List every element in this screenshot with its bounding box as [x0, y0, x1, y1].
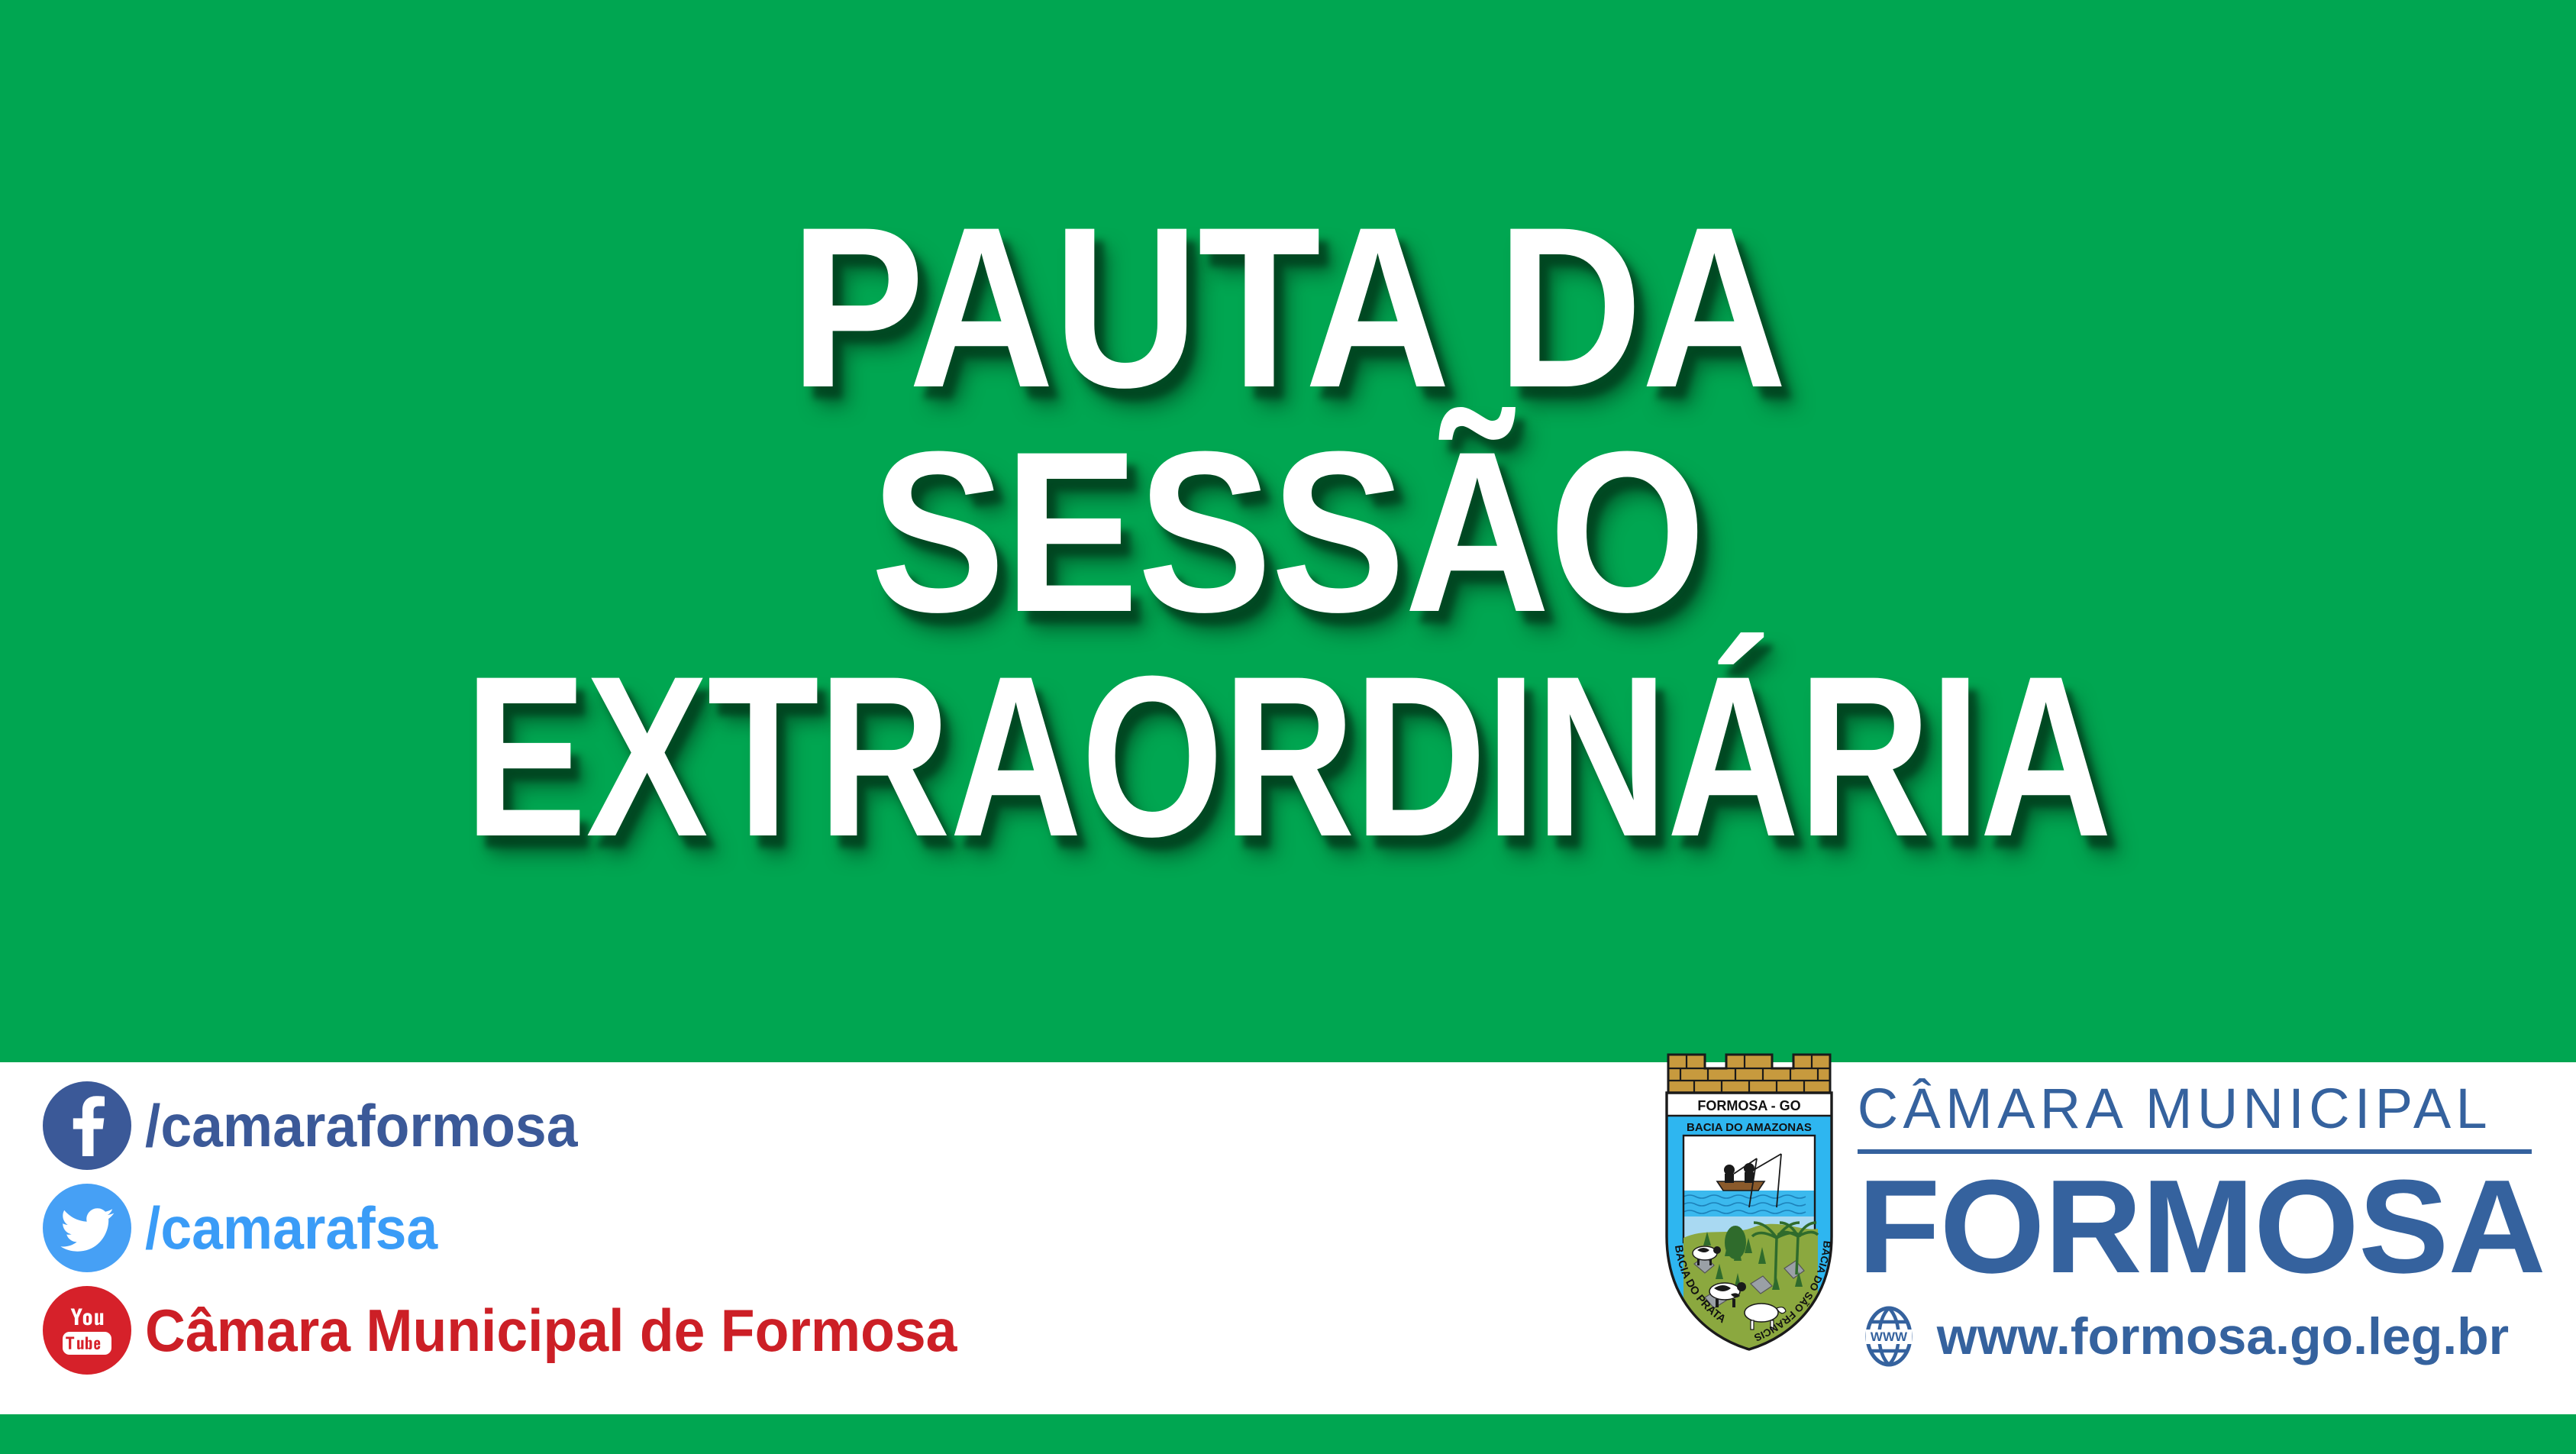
page-title-line-2: SESSÃO [871, 426, 1705, 637]
social-links-list: /camaraformosa /camarafsa [43, 1074, 1341, 1381]
page-title-line-1: PAUTA DA [790, 202, 1786, 412]
page-title-line-3: EXTRAORDINÁRIA [465, 651, 2112, 861]
institutional-logo[interactable]: FORMOSA - GO BACIA DO AMAZONAS BACIA DO … [1661, 1045, 2532, 1368]
website-url[interactable]: www.formosa.go.leg.br [1937, 1310, 2509, 1362]
youtube-handle[interactable]: Câmara Municipal de Formosa [145, 1301, 957, 1360]
poster-root: PAUTA DA SESSÃO EXTRAORDINÁRIA /camarafo… [0, 0, 2576, 1454]
twitter-handle[interactable]: /camarafsa [145, 1198, 437, 1258]
logo-main-line: FORMOSA [1858, 1160, 2545, 1293]
www-globe-icon: WWW [1858, 1305, 1920, 1368]
youtube-icon[interactable] [43, 1286, 131, 1375]
bottom-green-strip [0, 1414, 2576, 1454]
social-row-facebook[interactable]: /camaraformosa [43, 1074, 1341, 1177]
facebook-icon[interactable] [43, 1081, 131, 1170]
twitter-icon[interactable] [43, 1184, 131, 1272]
hero-banner: PAUTA DA SESSÃO EXTRAORDINÁRIA [0, 0, 2576, 1062]
crest-banner-text: FORMOSA - GO [1697, 1098, 1800, 1113]
facebook-handle[interactable]: /camaraformosa [145, 1096, 577, 1155]
social-row-youtube[interactable]: Câmara Municipal de Formosa [43, 1279, 1341, 1381]
footer-band: /camaraformosa /camarafsa [0, 1062, 2576, 1414]
formosa-coat-of-arms-icon: FORMOSA - GO BACIA DO AMAZONAS BACIA DO … [1661, 1045, 1838, 1354]
logo-top-line: CÂMARA MUNICIPAL [1858, 1081, 2532, 1137]
social-row-twitter[interactable]: /camarafsa [43, 1177, 1341, 1279]
crest-basin-top: BACIA DO AMAZONAS [1687, 1121, 1812, 1134]
logo-wordmark: CÂMARA MUNICIPAL FORMOSA WWW [1858, 1045, 2532, 1368]
svg-text:WWW: WWW [1871, 1330, 1908, 1344]
website-link[interactable]: WWW www.formosa.go.leg.br [1858, 1305, 2532, 1368]
